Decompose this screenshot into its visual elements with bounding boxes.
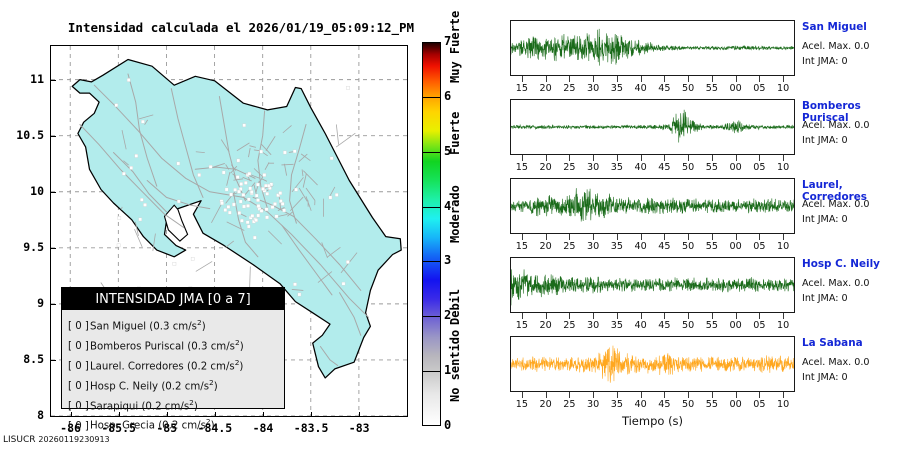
colorbar-tick [422, 97, 441, 98]
time-tick-label: 30 [582, 162, 604, 173]
time-tick-labels: 152025303540455055000510 [510, 162, 795, 175]
time-tick-row [510, 76, 795, 82]
time-tick-label: 40 [630, 241, 652, 252]
legend-level: [ 0 ] [68, 339, 90, 355]
time-tick-label: 55 [701, 320, 723, 331]
legend-row: [ 0 ]Laurel. Corredores (0.2 cm/s2) [68, 355, 284, 375]
station-jma-intensity: Int JMA: 0 [802, 372, 848, 383]
station-jma-intensity: Int JMA: 0 [802, 293, 848, 304]
time-tick-label: 30 [582, 83, 604, 94]
time-tick-label: 25 [558, 162, 580, 173]
map-y-tick [51, 248, 56, 249]
legend-row: [ 0 ]San Miguel (0.3 cm/s2) [68, 315, 284, 335]
time-tick-label: 00 [725, 241, 747, 252]
time-tick-label: 50 [677, 399, 699, 410]
footer-label: LISUCR [3, 435, 36, 445]
time-tick-label: 10 [772, 241, 794, 252]
time-tick-label: 15 [511, 320, 533, 331]
time-tick-labels: 152025303540455055000510 [510, 83, 795, 96]
station-max-acceleration: Acel. Max. 0.0 [802, 41, 870, 52]
legend-acceleration: (0.2 cm/s [161, 381, 209, 392]
time-tick-label: 15 [511, 399, 533, 410]
legend-level: [ 0 ] [68, 319, 90, 335]
legend-acceleration: (0.3 cm/s [187, 341, 235, 352]
time-tick-label: 00 [725, 320, 747, 331]
legend-level: [ 0 ] [68, 379, 90, 395]
time-tick-label: 10 [772, 162, 794, 173]
time-tick-labels: 152025303540455055000510 [510, 320, 795, 333]
legend-level: [ 0 ] [68, 399, 90, 415]
time-tick-label: 45 [653, 399, 675, 410]
station-jma-intensity: Int JMA: 0 [802, 214, 848, 225]
station-max-acceleration: Acel. Max. 0.0 [802, 120, 870, 131]
time-tick-label: 30 [582, 320, 604, 331]
time-tick-label: 30 [582, 399, 604, 410]
legend-row: [ 0 ]Sarapiqui (0.2 cm/s2) [68, 395, 284, 415]
map-y-tick [51, 304, 56, 305]
time-tick-label: 10 [772, 320, 794, 331]
legend-paren-close: ) [194, 401, 198, 412]
map-panel: Intensidad calculada el 2026/01/19_05:09… [0, 0, 500, 460]
map-x-tick [311, 412, 312, 417]
map-y-tick-label: 9.5 [0, 240, 44, 254]
legend-station-list: [ 0 ]San Miguel (0.3 cm/s2)[ 0 ]Bomberos… [62, 310, 284, 434]
time-axis-title: Tiempo (s) [510, 414, 795, 428]
time-tick-label: 50 [677, 83, 699, 94]
time-tick-label: 20 [535, 320, 557, 331]
time-tick-label: 45 [653, 83, 675, 94]
time-tick-label: 15 [511, 162, 533, 173]
map-y-tick [51, 192, 56, 193]
time-tick-label: 10 [772, 83, 794, 94]
time-tick-label: 50 [677, 162, 699, 173]
legend-station-name: San Miguel [90, 321, 146, 332]
colorbar-tick-label: 6 [444, 89, 458, 103]
map-x-tick [359, 412, 360, 417]
time-tick-label: 35 [606, 241, 628, 252]
intensity-colorbar [422, 42, 441, 426]
seismogram-panel: 152025303540455055000510San MiguelAcel. … [500, 0, 910, 460]
legend-paren-close: ) [211, 421, 215, 432]
colorbar-category-label: Fuerte [448, 111, 462, 154]
footer-code: 20260119230913 [38, 435, 109, 444]
time-tick-label: 55 [701, 399, 723, 410]
station-jma-intensity: Int JMA: 0 [802, 56, 848, 67]
colorbar-category-label: Muy Fuerte [448, 11, 462, 83]
station-jma-intensity: Int JMA: 0 [802, 135, 848, 146]
time-tick-label: 25 [558, 399, 580, 410]
time-tick-label: 05 [748, 320, 770, 331]
legend-acceleration: (0.2 cm/s [141, 401, 189, 412]
time-tick-label: 40 [630, 320, 652, 331]
map-y-tick [51, 360, 56, 361]
seismogram-trace[interactable] [510, 336, 795, 392]
legend-paren-close: ) [202, 321, 206, 332]
time-tick-label: 05 [748, 162, 770, 173]
legend-acceleration: (0.2 cm/s [187, 361, 235, 372]
legend-acceleration: (0.2 cm/s [158, 421, 206, 432]
time-tick-label: 10 [772, 399, 794, 410]
colorbar-tick [422, 152, 441, 153]
legend-row: [ 0 ]Bomberos Puriscal (0.3 cm/s2) [68, 335, 284, 355]
time-tick-label: 40 [630, 162, 652, 173]
legend-row: [ 0 ]Hosp C. Neily (0.2 cm/s2) [68, 375, 284, 395]
page-title: Intensidad calculada el 2026/01/19_05:09… [66, 20, 416, 35]
colorbar-category-label: Moderado [448, 185, 462, 243]
time-tick-labels: 152025303540455055000510 [510, 241, 795, 254]
footer-note: LISUCR 20260119230913 [3, 435, 110, 445]
legend-paren-close: ) [239, 361, 243, 372]
time-tick-row [510, 313, 795, 319]
time-tick-label: 20 [535, 241, 557, 252]
time-tick-label: 35 [606, 320, 628, 331]
legend-level: [ 0 ] [68, 419, 90, 435]
waveform [511, 337, 794, 391]
legend-paren-close: ) [240, 341, 244, 352]
map-y-tick [51, 80, 56, 81]
legend-row: [ 0 ]Hosp. Grecia (0.2 cm/s2) [68, 414, 284, 434]
time-tick-label: 50 [677, 241, 699, 252]
time-tick-label: 05 [748, 83, 770, 94]
legend-acceleration: (0.3 cm/s [149, 321, 197, 332]
station-name[interactable]: Hosp C. Neily [802, 258, 880, 270]
time-tick-label: 45 [653, 162, 675, 173]
station-max-acceleration: Acel. Max. 0.0 [802, 357, 870, 368]
time-tick-row [510, 234, 795, 240]
legend-title: INTENSIDAD JMA [0 a 7] [62, 288, 284, 310]
legend-paren-close: ) [214, 381, 218, 392]
time-tick-label: 15 [511, 83, 533, 94]
time-tick-label: 15 [511, 241, 533, 252]
seismogram-trace[interactable] [510, 257, 795, 313]
waveform [511, 21, 794, 75]
time-tick-label: 30 [582, 241, 604, 252]
time-tick-label: 25 [558, 241, 580, 252]
legend-station-name: Hosp C. Neily [90, 381, 158, 392]
time-tick-label: 35 [606, 162, 628, 173]
colorbar-tick [422, 371, 441, 372]
time-tick-label: 25 [558, 83, 580, 94]
station-max-acceleration: Acel. Max. 0.0 [802, 199, 870, 210]
map-x-tick-label: -83 [329, 421, 389, 435]
time-tick-label: 45 [653, 320, 675, 331]
colorbar-tick [422, 207, 441, 208]
legend-station-name: Laurel. Corredores [90, 361, 184, 372]
time-tick-label: 55 [701, 162, 723, 173]
map-y-tick-label: 10 [0, 184, 44, 198]
time-tick-label: 05 [748, 399, 770, 410]
legend-level: [ 0 ] [68, 359, 90, 375]
map-y-tick-label: 10.5 [0, 128, 44, 142]
time-tick-row [510, 392, 795, 398]
time-tick-label: 50 [677, 320, 699, 331]
colorbar-tick [422, 261, 441, 262]
legend-station-name: Sarapiqui [90, 401, 138, 412]
map-y-tick-label: 8.5 [0, 352, 44, 366]
map-y-tick [51, 136, 56, 137]
station-max-acceleration: Acel. Max. 0.0 [802, 278, 870, 289]
time-tick-label: 55 [701, 83, 723, 94]
legend-station-name: Hosp. Grecia [90, 421, 155, 432]
waveform [511, 258, 794, 312]
waveform [511, 179, 794, 233]
intensity-legend: INTENSIDAD JMA [0 a 7] [ 0 ]San Miguel (… [61, 287, 285, 409]
time-tick-label: 05 [748, 241, 770, 252]
time-tick-label: 35 [606, 83, 628, 94]
map-y-tick-label: 11 [0, 72, 44, 86]
time-tick-label: 00 [725, 399, 747, 410]
map-y-tick-label: 8 [0, 408, 44, 422]
time-tick-row [510, 155, 795, 161]
time-tick-label: 40 [630, 83, 652, 94]
time-tick-labels: 152025303540455055000510 [510, 399, 795, 412]
colorbar-category-label: Debil [448, 289, 462, 325]
time-tick-label: 00 [725, 83, 747, 94]
map-y-tick [51, 416, 56, 417]
map-y-tick-label: 9 [0, 296, 44, 310]
station-name[interactable]: San Miguel [802, 21, 867, 33]
colorbar-tick [422, 316, 441, 317]
colorbar-gradient [423, 43, 440, 425]
seismogram-trace[interactable] [510, 178, 795, 234]
time-tick-label: 35 [606, 399, 628, 410]
time-tick-label: 25 [558, 320, 580, 331]
waveform [511, 100, 794, 154]
time-tick-label: 00 [725, 162, 747, 173]
colorbar-tick-label: 3 [444, 253, 458, 267]
seismogram-trace[interactable] [510, 20, 795, 76]
colorbar-tick-label: 0 [444, 418, 458, 432]
time-tick-label: 20 [535, 83, 557, 94]
time-tick-label: 20 [535, 162, 557, 173]
legend-station-name: Bomberos Puriscal [90, 341, 184, 352]
colorbar-category-label: No sentido [448, 329, 462, 401]
time-tick-label: 20 [535, 399, 557, 410]
station-name[interactable]: La Sabana [802, 337, 863, 349]
time-tick-label: 40 [630, 399, 652, 410]
seismogram-trace[interactable] [510, 99, 795, 155]
time-tick-label: 45 [653, 241, 675, 252]
time-tick-label: 55 [701, 241, 723, 252]
